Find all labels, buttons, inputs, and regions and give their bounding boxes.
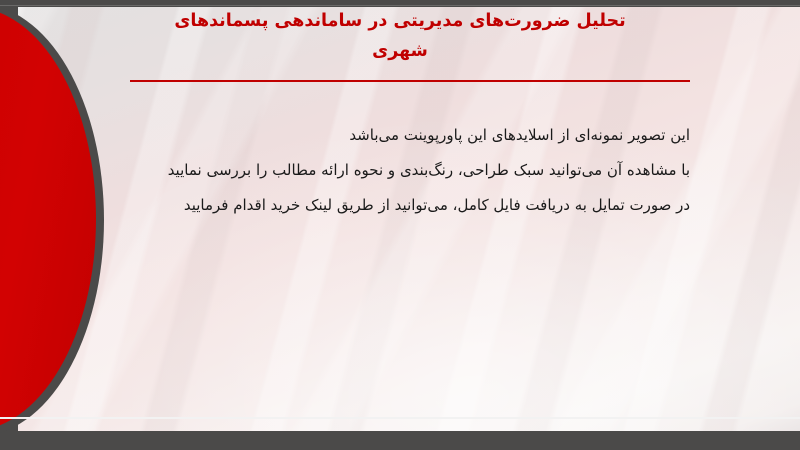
- body-text-block: این تصویر نمونه‌ای از اسلایدهای این پاور…: [90, 118, 690, 223]
- slide-frame: تحلیل ضرورت‌های مدیریتی در ساماندهی پسما…: [0, 0, 800, 450]
- slide-title: تحلیل ضرورت‌های مدیریتی در ساماندهی پسما…: [110, 6, 690, 66]
- body-line-2: با مشاهده آن می‌توانید سبک طراحی، رنگ‌بن…: [90, 153, 690, 188]
- title-divider-rule: [130, 80, 690, 82]
- title-block: تحلیل ضرورت‌های مدیریتی در ساماندهی پسما…: [110, 6, 690, 66]
- bottom-hairline: [0, 417, 800, 419]
- body-line-1: این تصویر نمونه‌ای از اسلایدهای این پاور…: [90, 118, 690, 153]
- body-line-3: در صورت تمایل به دریافت فایل کامل، می‌تو…: [90, 188, 690, 223]
- top-hairline: [0, 5, 800, 6]
